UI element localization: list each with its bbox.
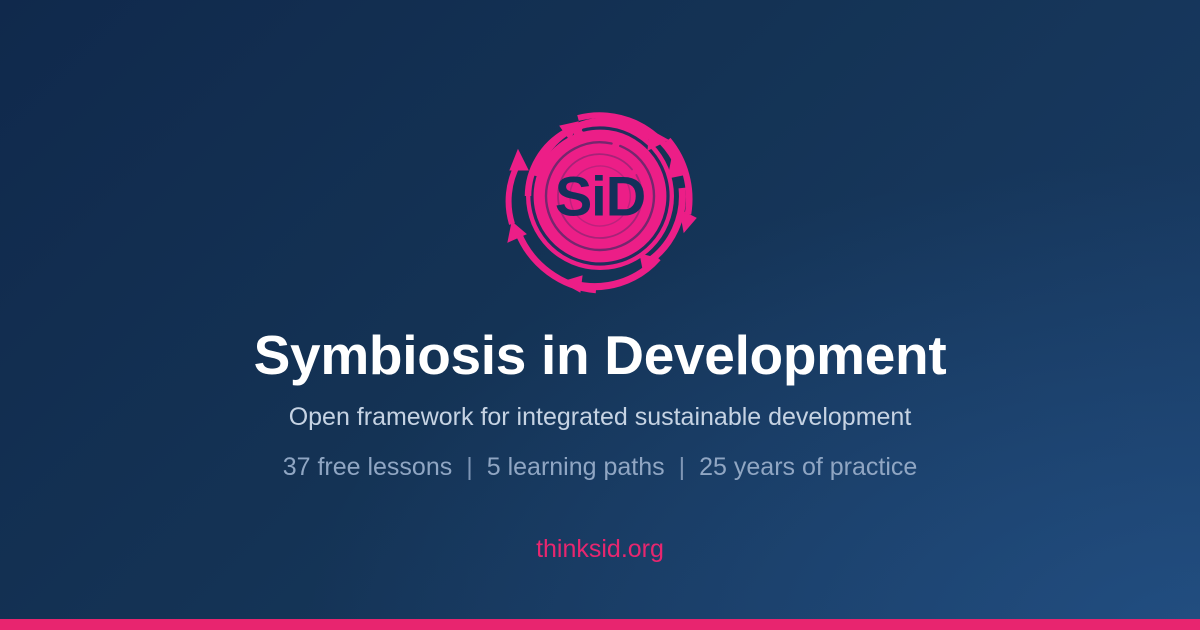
page-title: Symbiosis in Development: [254, 326, 947, 385]
stat-separator-2: |: [665, 452, 700, 482]
stats-line: 37 free lessons | 5 learning paths | 25 …: [283, 452, 918, 482]
sid-logo-wordmark: SiD: [555, 165, 645, 228]
stat-separator-1: |: [452, 452, 487, 482]
hero-text-block: Symbiosis in Development Open framework …: [0, 304, 1200, 564]
stat-lessons: 37 free lessons: [283, 452, 453, 482]
sid-spiral-logo-icon: SiD: [492, 92, 708, 304]
page-subtitle: Open framework for integrated sustainabl…: [289, 402, 912, 432]
stat-years-practice: 25 years of practice: [699, 452, 917, 482]
social-share-card: SiD Symbiosis in Development Open framew…: [0, 0, 1200, 630]
stat-learning-paths: 5 learning paths: [487, 452, 665, 482]
site-url-link[interactable]: thinksid.org: [536, 534, 664, 564]
bottom-accent-bar: [0, 619, 1200, 630]
